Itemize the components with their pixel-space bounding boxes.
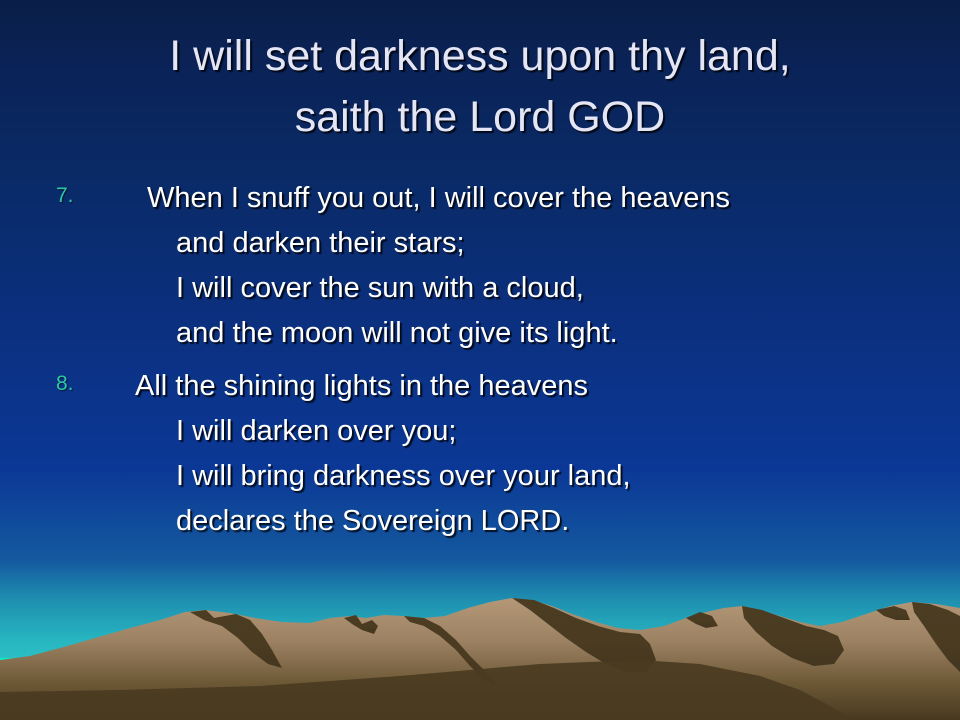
mountain-range-graphic xyxy=(0,560,960,720)
list-line: I will bring darkness over your land, xyxy=(0,454,960,499)
list-item: 8. All the shining lights in the heavens… xyxy=(0,364,960,544)
list-line: and darken their stars; xyxy=(0,221,960,266)
list-line: I will darken over you; xyxy=(0,409,960,454)
list-line: All the shining lights in the heavens xyxy=(0,364,960,409)
list-line: When I snuff you out, I will cover the h… xyxy=(0,176,960,221)
list-item-lines: When I snuff you out, I will cover the h… xyxy=(0,176,960,356)
list-line: I will cover the sun with a cloud, xyxy=(0,266,960,311)
list-item: 7. When I snuff you out, I will cover th… xyxy=(0,176,960,356)
scripture-list: 7. When I snuff you out, I will cover th… xyxy=(0,176,960,552)
page-title: I will set darkness upon thy land, saith… xyxy=(40,26,920,148)
list-item-lines: All the shining lights in the heavens I … xyxy=(0,364,960,544)
list-item-number: 7. xyxy=(56,184,74,208)
slide: I will set darkness upon thy land, saith… xyxy=(0,0,960,720)
list-line: and the moon will not give its light. xyxy=(0,311,960,356)
list-line: declares the Sovereign LORD. xyxy=(0,499,960,544)
list-item-number: 8. xyxy=(56,372,74,396)
